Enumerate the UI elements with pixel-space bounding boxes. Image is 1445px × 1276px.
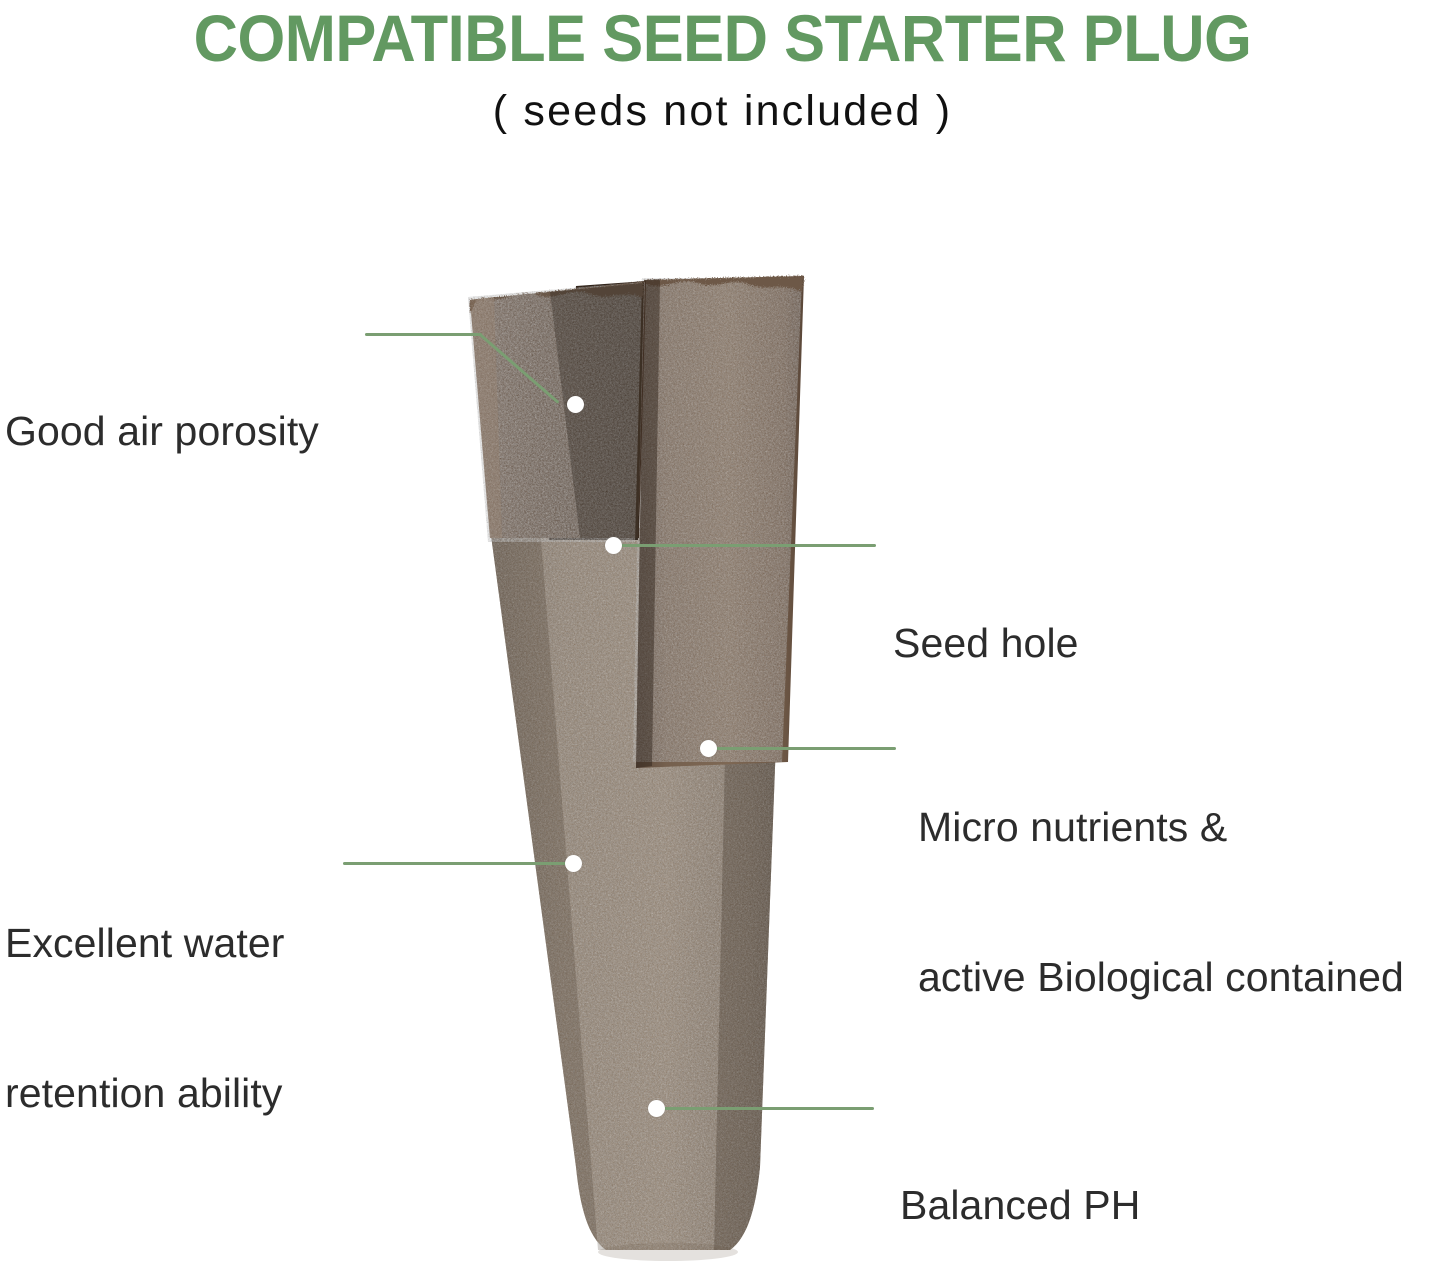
leader-line-micro-nutrients: [714, 747, 896, 750]
page-subtitle: ( seeds not included ): [0, 86, 1445, 136]
page-title: COMPATIBLE SEED STARTER PLUG: [51, 2, 1395, 74]
callout-dot-balanced-ph: [648, 1100, 665, 1117]
leader-line-good-air-porosity-horizontal: [365, 333, 482, 336]
callout-line-2: retention ability: [5, 1068, 285, 1118]
callout-label-micro-nutrients: Micro nutrients & active Biological cont…: [918, 702, 1404, 1102]
callout-line-2: active Biological contained: [918, 952, 1404, 1002]
callout-line-1: Micro nutrients &: [918, 802, 1404, 852]
callout-line: Seed hole: [893, 619, 1079, 667]
callout-line: Good air porosity: [5, 407, 319, 455]
callout-dot-micro-nutrients: [700, 740, 717, 757]
infographic-canvas: COMPATIBLE SEED STARTER PLUG ( seeds not…: [0, 0, 1445, 1276]
seed-starter-plug-image: [430, 262, 820, 1267]
callout-dot-good-air-porosity: [567, 396, 584, 413]
callout-label-excellent-water-retention: Excellent water retention ability: [5, 818, 285, 1218]
leader-line-seed-hole: [618, 544, 876, 547]
callout-dot-excellent-water-retention: [565, 855, 582, 872]
leader-line-excellent-water-retention: [343, 862, 575, 865]
leader-line-balanced-ph: [662, 1107, 874, 1110]
callout-line-1: Excellent water: [5, 918, 285, 968]
callout-label-good-air-porosity: Good air porosity: [5, 311, 319, 551]
callout-label-balanced-ph: Balanced PH: [900, 1085, 1140, 1276]
callout-dot-seed-hole: [605, 537, 622, 554]
callout-line: Balanced PH: [900, 1181, 1140, 1229]
